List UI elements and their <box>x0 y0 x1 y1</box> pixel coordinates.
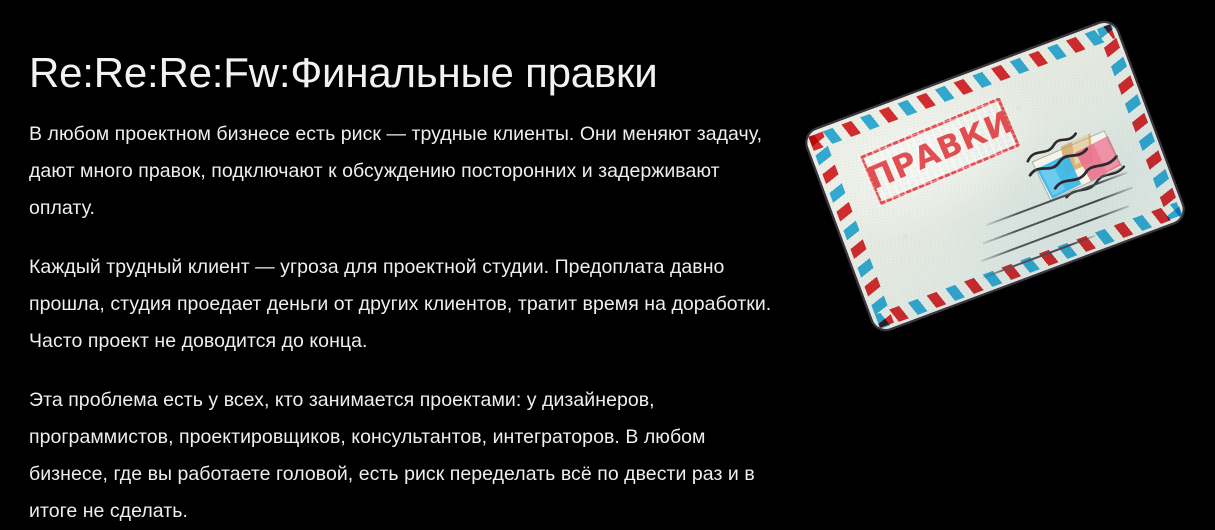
address-line <box>982 235 1095 279</box>
article-paragraph: В любом проектном бизнесе есть риск — тр… <box>29 116 789 227</box>
page-title: Re:Re:Re:Fw:Финальные правки <box>29 48 789 98</box>
article-paragraph: Каждый трудный клиент — угроза для проек… <box>29 249 789 360</box>
article-content: Re:Re:Re:Fw:Финальные правки В любом про… <box>29 48 789 530</box>
envelope-rotor: ПРАВКИ <box>803 19 1186 333</box>
page-root: Re:Re:Re:Fw:Финальные правки В любом про… <box>0 0 1215 505</box>
envelope-illustration: ПРАВКИ <box>806 24 1186 354</box>
article-paragraph: Эта проблема есть у всех, кто занимается… <box>29 382 789 530</box>
envelope-body: ПРАВКИ <box>803 19 1186 333</box>
